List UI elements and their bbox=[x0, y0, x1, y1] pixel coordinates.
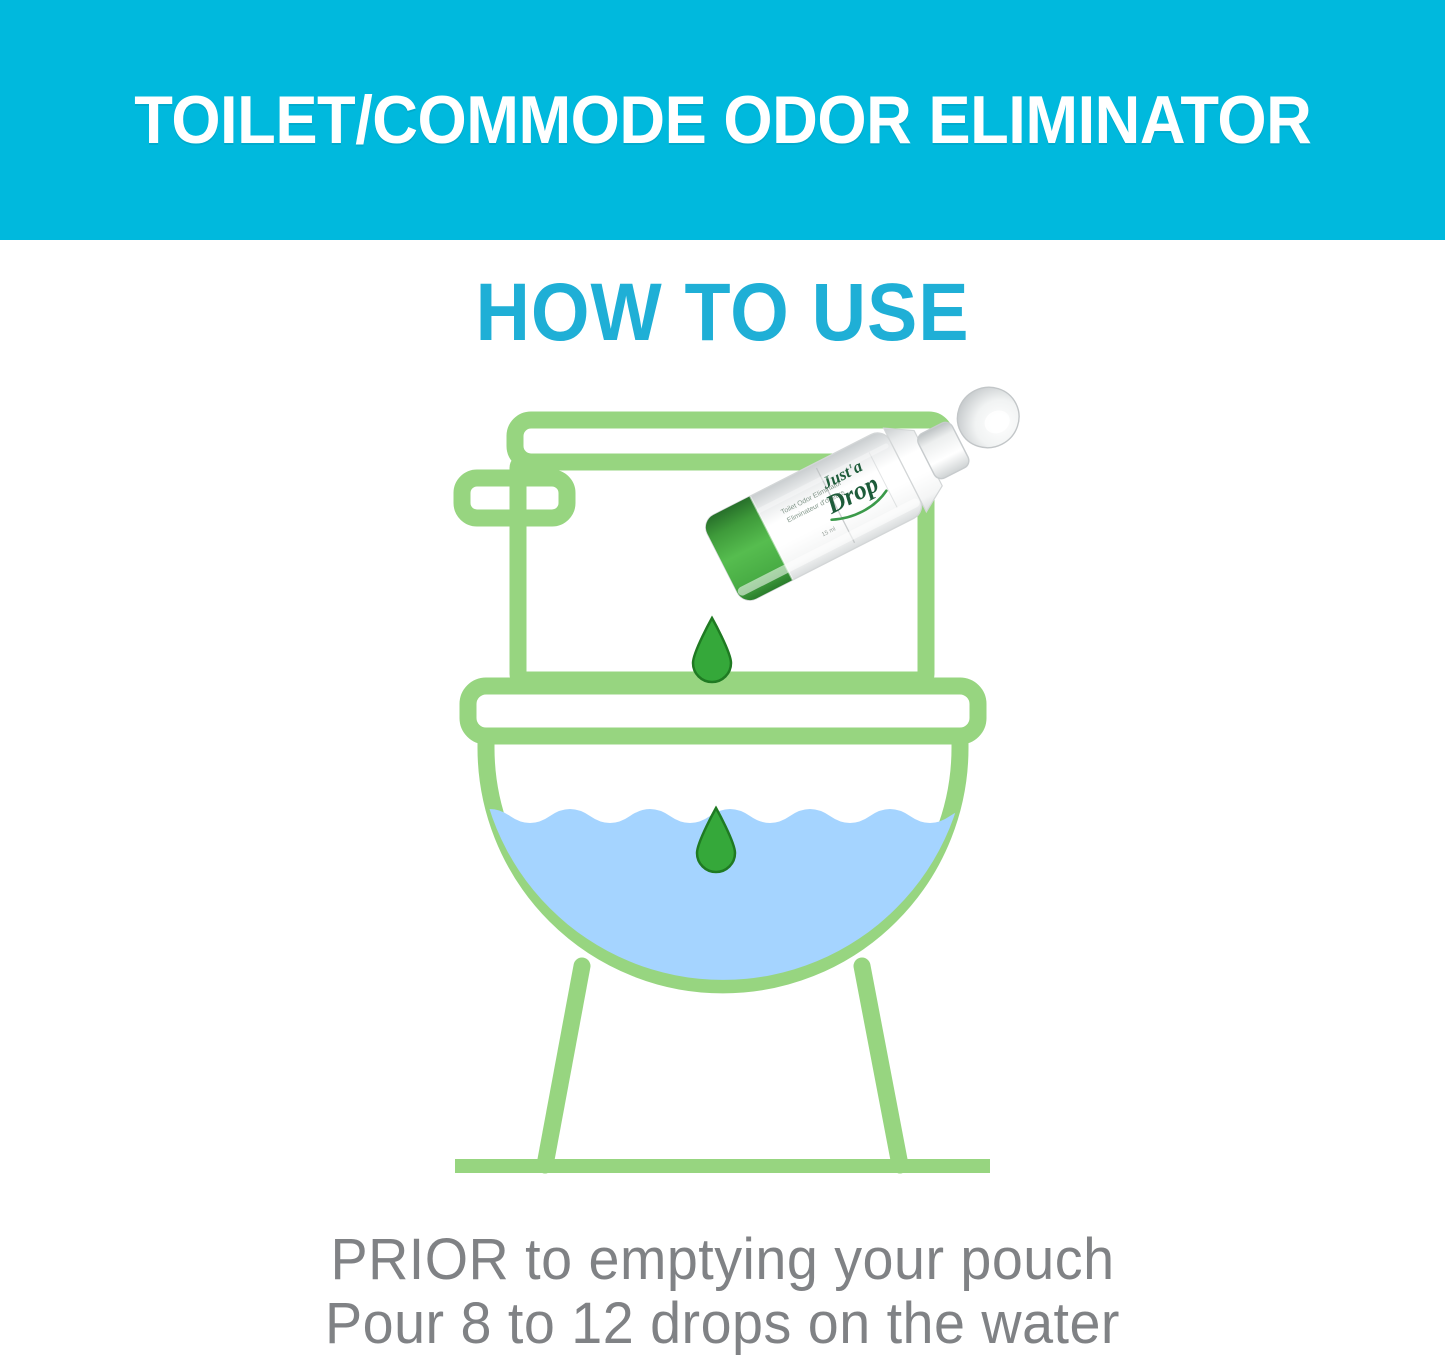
toilet-illustration: Just'a Drop Toilet Odor Eliminator Elimi… bbox=[0, 380, 1445, 1210]
falling-drop-upper bbox=[693, 618, 731, 682]
product-instruction-graphic: TOILET/COMMODE ODOR ELIMINATOR HOW TO US… bbox=[0, 0, 1445, 1363]
toilet-seat bbox=[468, 686, 978, 736]
header-banner: TOILET/COMMODE ODOR ELIMINATOR bbox=[0, 0, 1445, 240]
how-to-use-section: HOW TO USE bbox=[0, 272, 1445, 354]
banner-title: TOILET/COMMODE ODOR ELIMINATOR bbox=[134, 86, 1311, 154]
caption-line-2: Pour 8 to 12 drops on the water bbox=[29, 1292, 1416, 1356]
caption-line-1: PRIOR to emptying your pouch bbox=[29, 1228, 1416, 1292]
instruction-caption: PRIOR to emptying your pouch Pour 8 to 1… bbox=[0, 1228, 1445, 1356]
pedestal-legs bbox=[545, 966, 900, 1165]
section-heading: HOW TO USE bbox=[475, 272, 969, 354]
